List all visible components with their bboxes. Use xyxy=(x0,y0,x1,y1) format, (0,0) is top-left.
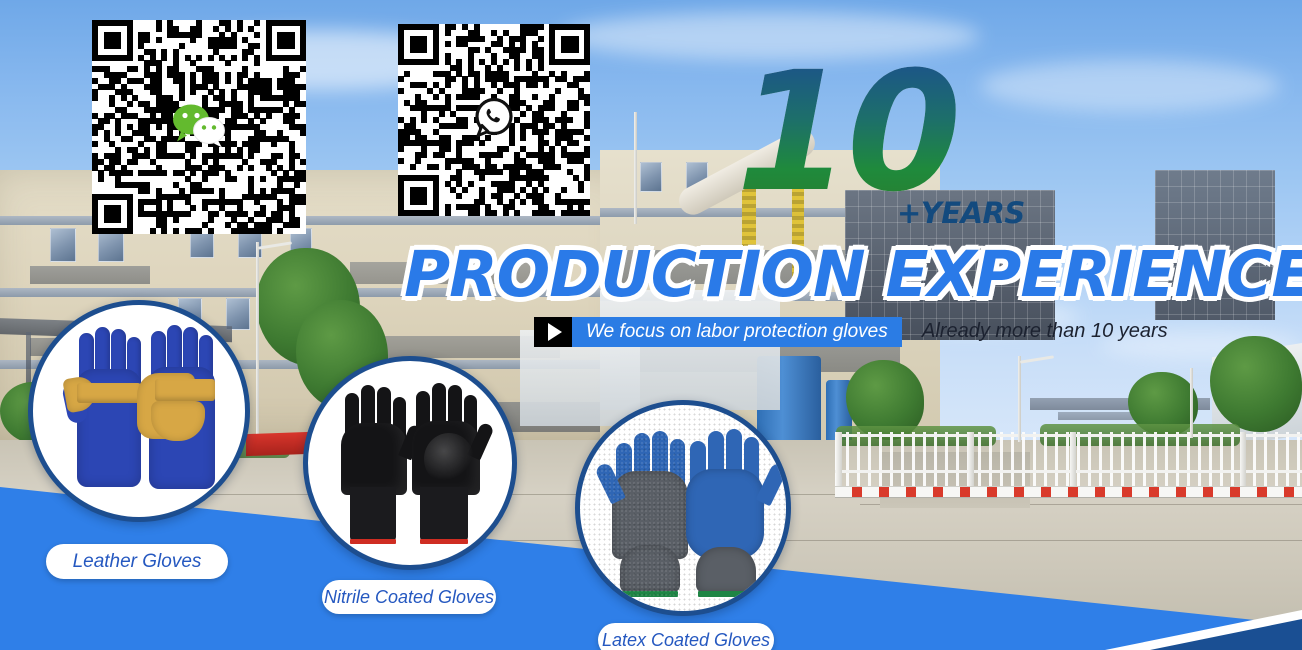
years-suffix: +YEARS xyxy=(897,196,1025,230)
promotional-banner: 10 10 +YEARS PRODUCTION EXPERIENCE We fo… xyxy=(0,0,1302,650)
headline-text: PRODUCTION EXPERIENCE xyxy=(404,238,1302,311)
product-label-leather-text: Leather Gloves xyxy=(73,551,202,573)
play-button-icon[interactable] xyxy=(534,317,572,347)
tagline-bar: We focus on labor protection gloves xyxy=(572,317,902,347)
whatsapp-qr[interactable] xyxy=(398,24,590,216)
product-label-latex[interactable]: Latex Coated Gloves xyxy=(598,623,774,650)
product-label-nitrile-text: Nitrile Coated Gloves xyxy=(324,587,494,608)
tagline-bar-text: We focus on labor protection gloves xyxy=(586,321,888,343)
leather-gloves-image xyxy=(33,305,245,517)
years-number: 10 xyxy=(736,50,958,215)
latex-gloves-image xyxy=(580,405,786,611)
product-label-leather[interactable]: Leather Gloves xyxy=(46,544,228,579)
product-label-latex-text: Latex Coated Gloves xyxy=(602,630,770,650)
product-circle-nitrile[interactable] xyxy=(303,356,517,570)
whatsapp-icon xyxy=(469,93,519,148)
nitrile-gloves-image xyxy=(308,361,512,565)
product-circle-leather[interactable] xyxy=(28,300,250,522)
product-circle-latex[interactable] xyxy=(575,400,791,616)
tagline-secondary-text: Already more than 10 years xyxy=(922,320,1168,343)
play-triangle-icon xyxy=(548,323,562,341)
wechat-qr[interactable] xyxy=(92,20,306,234)
product-label-nitrile[interactable]: Nitrile Coated Gloves xyxy=(322,580,496,614)
wechat-icon xyxy=(171,102,227,153)
